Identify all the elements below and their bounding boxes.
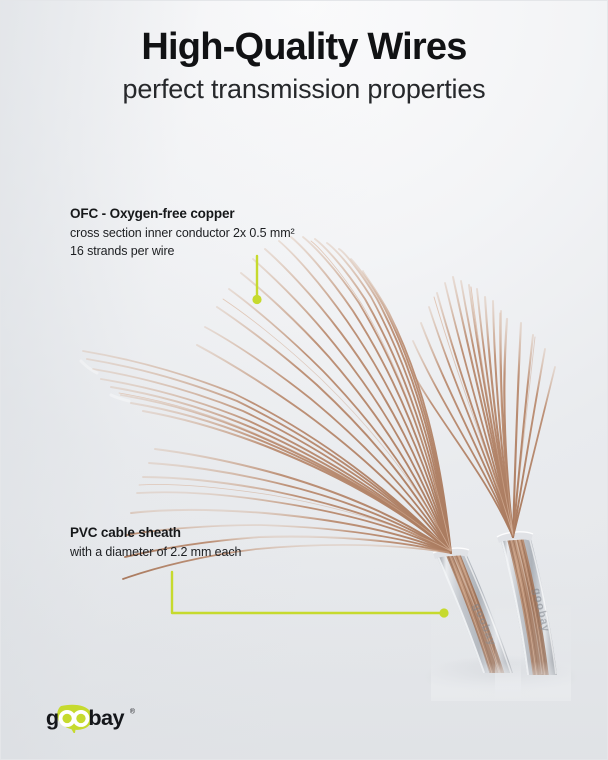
leader-line-ofc (252, 256, 261, 304)
logo-registered-mark: ® (130, 708, 135, 716)
cable-print-right: goobay (530, 587, 552, 634)
page-title: High-Quality Wires (1, 27, 607, 68)
cable-jacket-left: goobay (431, 548, 521, 701)
background-gradient (1, 1, 607, 759)
infographic-page: goobay (0, 0, 608, 760)
header: High-Quality Wires perfect transmission … (1, 27, 607, 106)
callout-ofc-title: OFC - Oxygen-free copper (70, 206, 295, 221)
callout-ofc: OFC - Oxygen-free copper cross section i… (70, 206, 295, 260)
goobay-logo: g bay ® (45, 701, 149, 735)
copper-strands-left-highlight (119, 241, 451, 551)
leader-line-pvc (172, 572, 449, 618)
copper-strands-right (405, 277, 555, 537)
page-subtitle: perfect transmission properties (1, 74, 607, 106)
callout-ofc-line-1: cross section inner conductor 2x 0.5 mm² (70, 225, 295, 243)
leader-lines (1, 1, 608, 760)
copper-strands-right-highlight (434, 287, 535, 535)
logo-text-g: g (46, 705, 59, 730)
goobay-logo-mark: g bay ® (45, 703, 149, 733)
callout-pvc: PVC cable sheath with a diameter of 2.2 … (70, 525, 241, 562)
cable-print-left: goobay (470, 602, 498, 648)
callout-pvc-title: PVC cable sheath (70, 525, 241, 540)
callout-pvc-line-1: with a diameter of 2.2 mm each (70, 544, 241, 562)
cable-jacket-right: goobay (495, 532, 571, 701)
strand-tips-softening (81, 361, 129, 401)
svg-text:goobay: goobay (470, 602, 498, 648)
logo-text-bay: bay (88, 705, 124, 730)
product-photo: goobay (1, 1, 608, 760)
callout-ofc-line-2: 16 strands per wire (70, 243, 295, 261)
svg-text:goobay: goobay (530, 587, 552, 634)
